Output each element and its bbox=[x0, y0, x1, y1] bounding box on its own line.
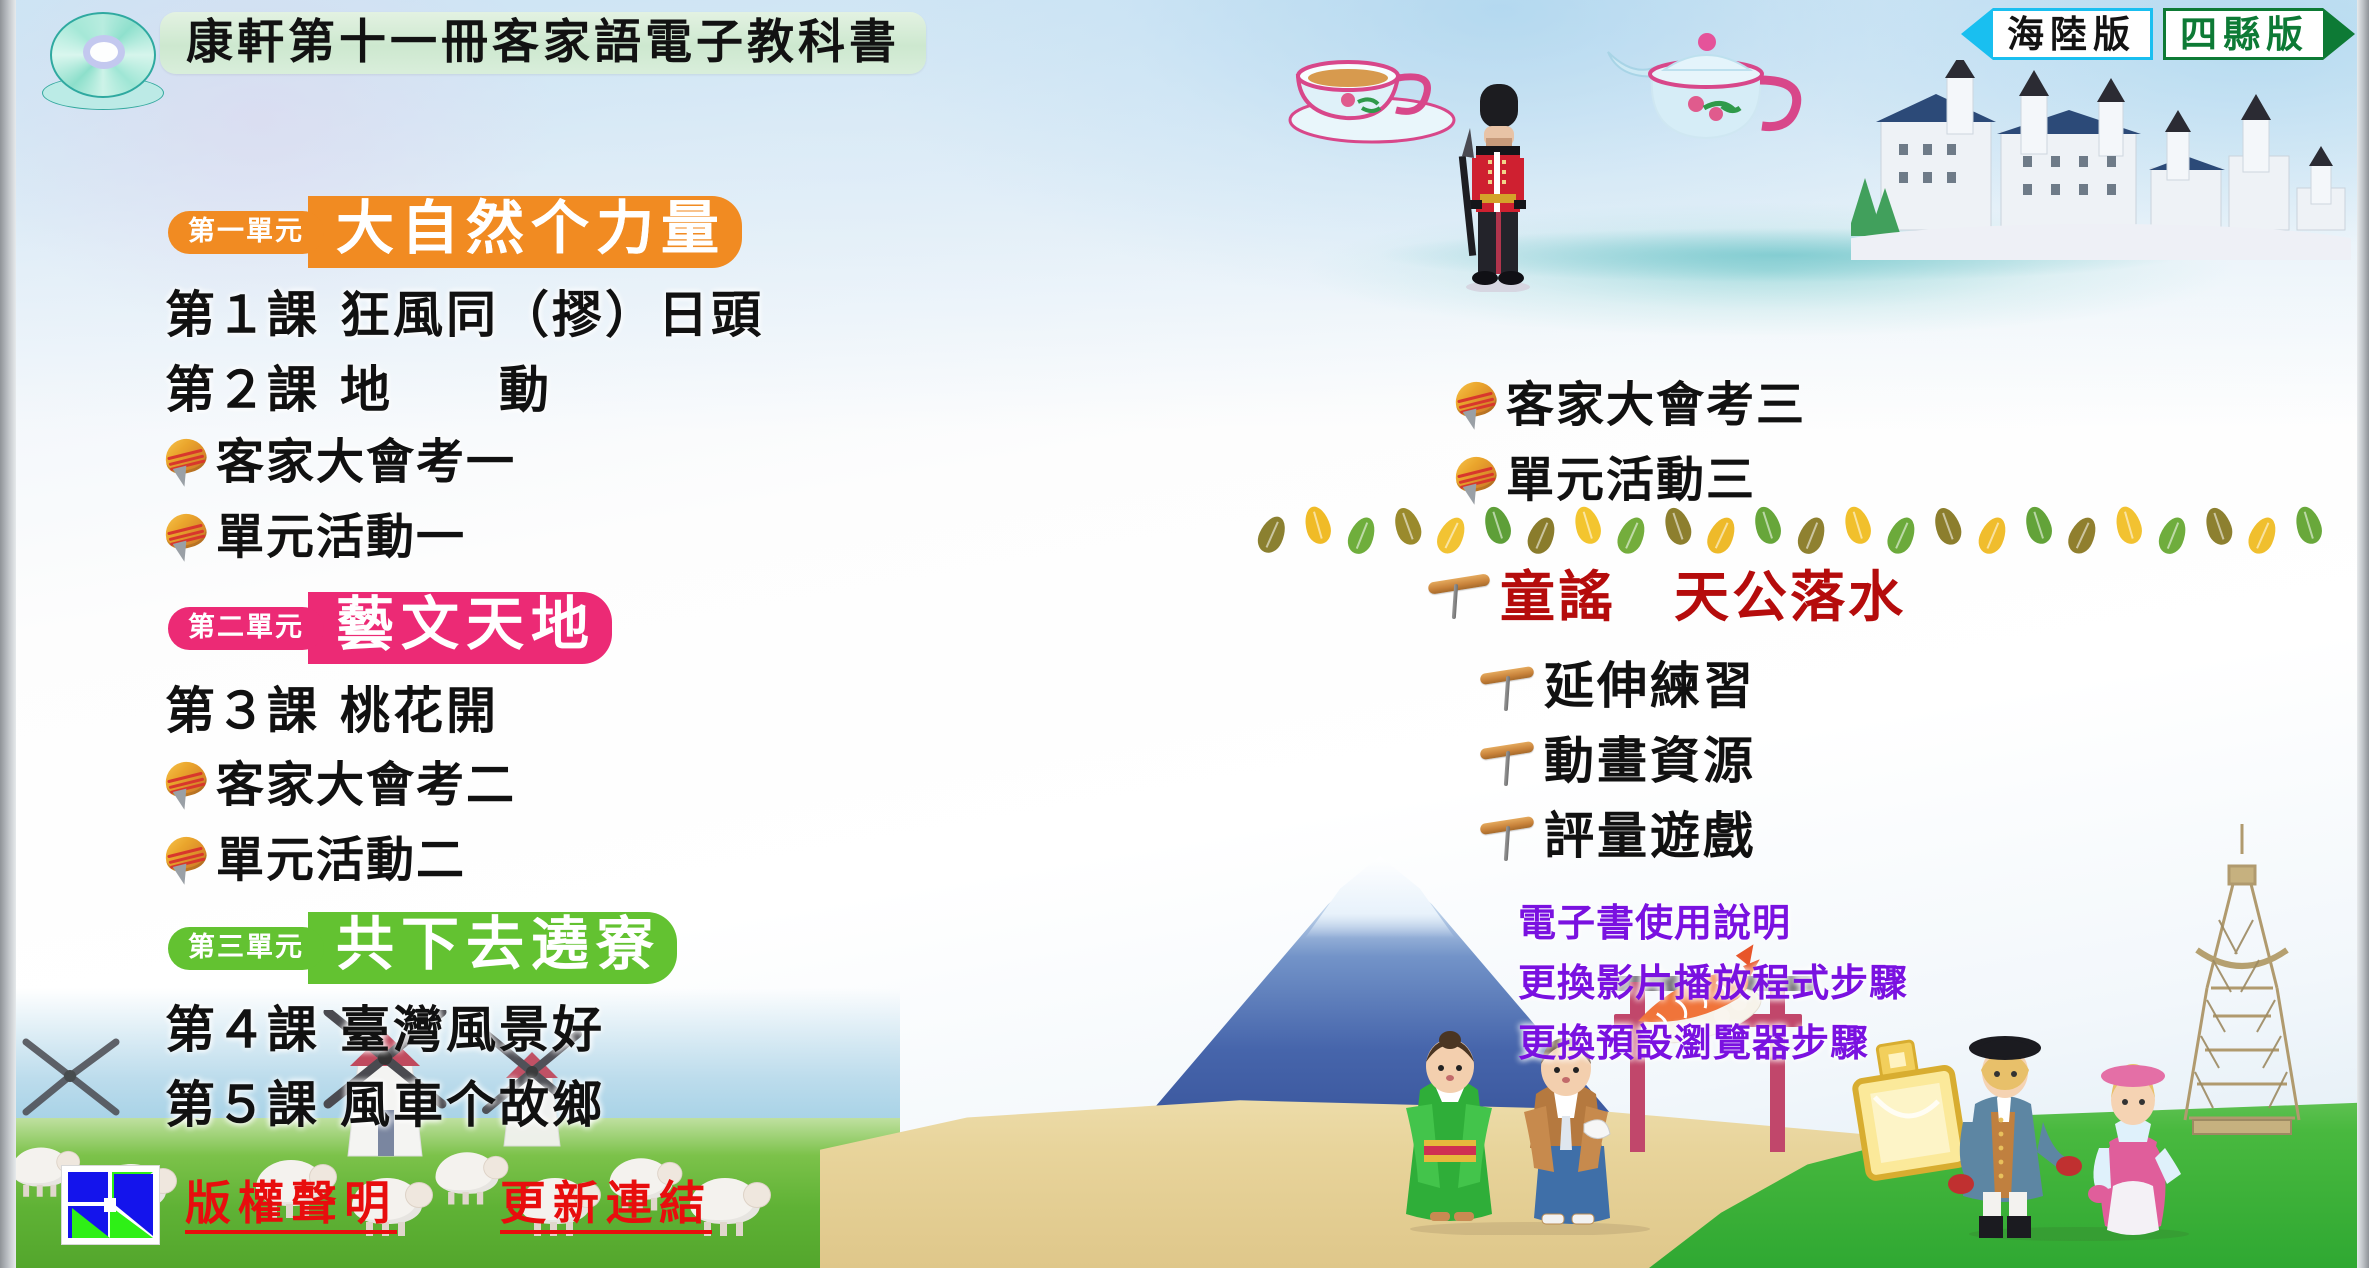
spinning-top-icon bbox=[162, 512, 208, 564]
lesson-name: 臺灣風景好 bbox=[340, 1005, 605, 1055]
lesson-name: 狂風同（摎）日頭 bbox=[340, 290, 764, 340]
activity-label: 單元活動二 bbox=[216, 837, 466, 885]
lesson-row-4[interactable]: 第４課 臺灣風景好 bbox=[165, 1005, 605, 1055]
unit-heading-1[interactable]: 第一單元 大自然个力量 bbox=[168, 196, 742, 268]
activity-label: 客家大會考一 bbox=[216, 439, 516, 487]
right-arrow-icon bbox=[2323, 8, 2355, 60]
lesson-number: 第２課 bbox=[165, 365, 318, 415]
unit-title-1: 大自然个力量 bbox=[308, 196, 742, 268]
mist-band bbox=[1150, 150, 2369, 380]
windmill-illustration bbox=[20, 1032, 130, 1128]
unit-heading-3[interactable]: 第三單元 共下去遶寮 bbox=[168, 912, 677, 984]
lesson-number: 第３課 bbox=[165, 686, 318, 736]
lesson-row-3[interactable]: 第３課 桃花開 bbox=[165, 686, 499, 736]
spinning-top-icon bbox=[162, 437, 208, 489]
next-version-button[interactable]: 四縣版 bbox=[2163, 8, 2355, 60]
song-row[interactable]: 童謠 天公落水 bbox=[1428, 568, 1906, 626]
sheep-illustration bbox=[436, 1152, 499, 1193]
lesson-row-1[interactable]: 第１課 狂風同（摎）日頭 bbox=[165, 290, 764, 340]
next-version-label: 四縣版 bbox=[2163, 8, 2323, 60]
activity-label: 單元活動三 bbox=[1506, 457, 1756, 505]
lesson-row-2[interactable]: 第２課 地 動 bbox=[165, 365, 552, 415]
spinning-top-icon bbox=[162, 760, 208, 812]
unit-badge-2: 第二單元 bbox=[168, 607, 324, 650]
activity-row-exam-3[interactable]: 客家大會考三 bbox=[1452, 380, 1806, 432]
french-couple-illustration bbox=[1939, 1026, 2219, 1246]
prev-version-label: 海陸版 bbox=[1993, 8, 2153, 60]
prev-version-button[interactable]: 海陸版 bbox=[1961, 8, 2153, 60]
activity-row-unit-1[interactable]: 單元活動一 bbox=[162, 512, 466, 564]
lesson-number: 第１課 bbox=[165, 290, 318, 340]
mid-sand-ground bbox=[820, 1053, 1870, 1268]
resource-row-practice[interactable]: 延伸練習 bbox=[1480, 660, 1756, 712]
copyright-link[interactable]: 版權聲明 bbox=[185, 1181, 397, 1234]
activity-label: 客家大會考三 bbox=[1506, 382, 1806, 430]
activity-row-exam-1[interactable]: 客家大會考一 bbox=[162, 437, 516, 489]
help-link-player[interactable]: 更換影片播放程式步驟 bbox=[1518, 965, 1908, 1003]
royal-guard-illustration bbox=[1450, 82, 1546, 292]
german-castle-illustration bbox=[1851, 60, 2351, 260]
activity-row-exam-2[interactable]: 客家大會考二 bbox=[162, 760, 516, 812]
right-grass bbox=[1649, 1038, 2369, 1268]
resource-label: 評量遊戲 bbox=[1544, 811, 1756, 861]
teapot-illustration bbox=[1600, 18, 1815, 163]
page-title-bar: 康軒第十一冊客家語電子教科書 bbox=[160, 12, 926, 74]
activity-label: 單元活動一 bbox=[216, 514, 466, 562]
unit-title-3: 共下去遶寮 bbox=[308, 912, 677, 984]
activity-label: 客家大會考二 bbox=[216, 762, 516, 810]
window-left-edge bbox=[0, 0, 16, 1268]
eiffel-tower-illustration bbox=[2167, 820, 2317, 1140]
lesson-name: 桃花開 bbox=[340, 686, 499, 736]
fuji-snow-cap bbox=[1255, 856, 1505, 938]
song-label: 童謠 天公落水 bbox=[1500, 570, 1906, 625]
ebook-home-page: 康軒第十一冊客家語電子教科書 海陸版 四縣版 第一單元 大自然个力量 第１課 狂… bbox=[0, 0, 2369, 1268]
lesson-number: 第４課 bbox=[165, 1005, 318, 1055]
help-link-browser[interactable]: 更換預設瀏覽器步驟 bbox=[1518, 1025, 1869, 1063]
resource-row-game[interactable]: 評量遊戲 bbox=[1480, 810, 1756, 862]
lesson-name: 風車个故鄉 bbox=[340, 1080, 605, 1130]
kang-hsuan-logo bbox=[62, 1166, 159, 1244]
resource-label: 延伸練習 bbox=[1544, 661, 1756, 711]
activity-row-unit-3[interactable]: 單元活動三 bbox=[1452, 455, 1756, 507]
spinning-top-icon bbox=[1452, 380, 1498, 432]
bamboo-copter-icon bbox=[1480, 735, 1534, 787]
bamboo-copter-icon bbox=[1480, 810, 1534, 862]
leaf-divider bbox=[1262, 508, 2322, 552]
lesson-number: 第５課 bbox=[165, 1080, 318, 1130]
page-title: 康軒第十一冊客家語電子教科書 bbox=[186, 20, 900, 67]
unit-badge-3: 第三單元 bbox=[168, 927, 324, 970]
lesson-row-5[interactable]: 第５課 風車个故鄉 bbox=[165, 1080, 605, 1130]
resource-row-animation[interactable]: 動畫資源 bbox=[1480, 735, 1756, 787]
bamboo-copter-icon bbox=[1480, 660, 1534, 712]
cd-disc-icon bbox=[42, 4, 164, 122]
unit-title-2: 藝文天地 bbox=[308, 592, 612, 664]
spinning-top-icon bbox=[162, 835, 208, 887]
unit-badge-1: 第一單元 bbox=[168, 211, 324, 254]
update-link[interactable]: 更新連結 bbox=[500, 1181, 712, 1234]
lesson-name: 地 動 bbox=[340, 365, 552, 415]
activity-row-unit-2[interactable]: 單元活動二 bbox=[162, 835, 466, 887]
mist-band-inner bbox=[1240, 195, 2369, 315]
window-right-edge bbox=[2357, 0, 2369, 1268]
teacup-illustration bbox=[1280, 28, 1470, 148]
resource-label: 動畫資源 bbox=[1544, 736, 1756, 786]
help-link-manual[interactable]: 電子書使用說明 bbox=[1518, 905, 1791, 943]
left-arrow-icon bbox=[1961, 8, 1993, 60]
bamboo-copter-icon bbox=[1428, 568, 1490, 626]
version-switcher: 海陸版 四縣版 bbox=[1961, 8, 2355, 60]
spinning-top-icon bbox=[1452, 455, 1498, 507]
unit-heading-2[interactable]: 第二單元 藝文天地 bbox=[168, 592, 612, 664]
